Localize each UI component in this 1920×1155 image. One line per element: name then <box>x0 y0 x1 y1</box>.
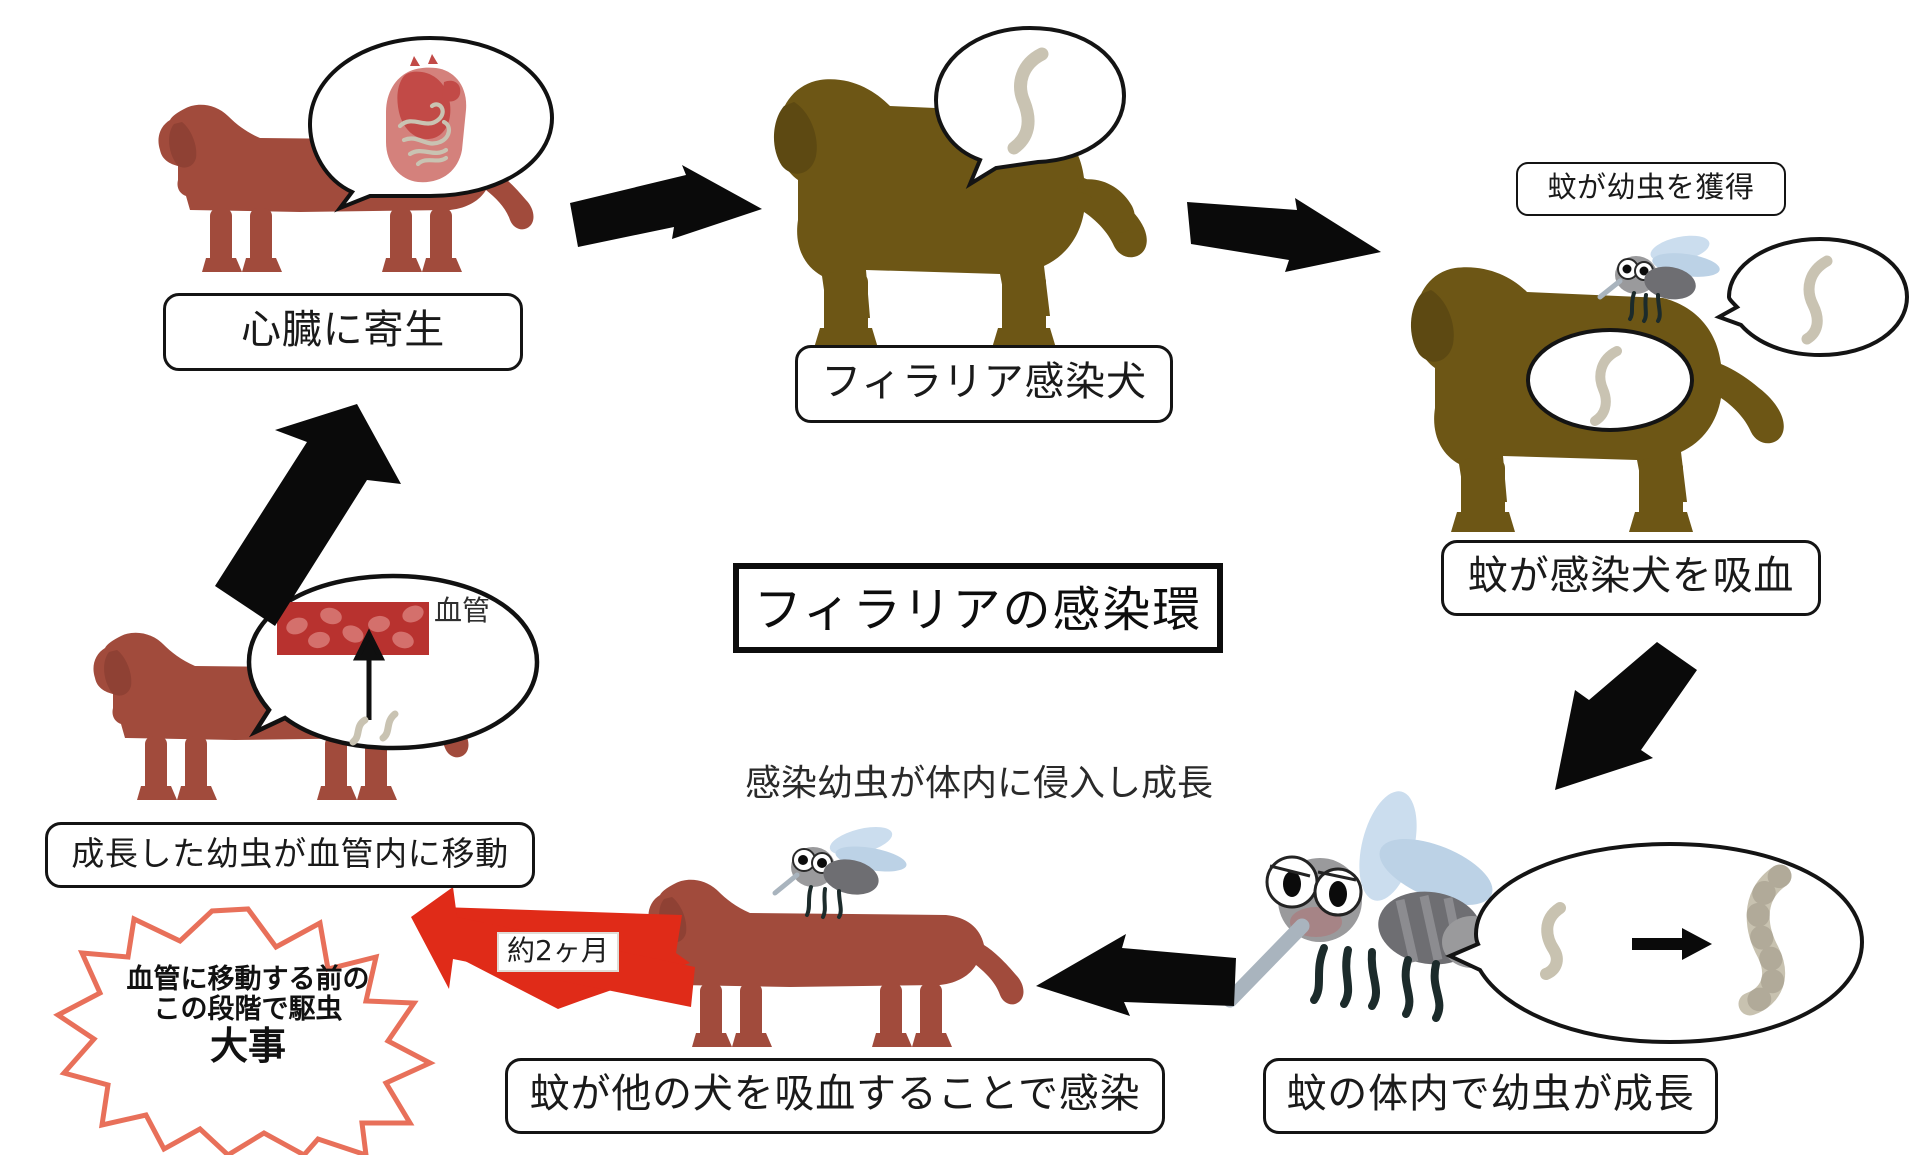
worm-bubble-on-dog <box>1525 325 1695 435</box>
label-mosquito-bites-other-dog: 蚊が他の犬を吸血することで感染 <box>505 1058 1165 1134</box>
label-mosquito-acquires-larvae: 蚊が幼虫を獲得 <box>1516 162 1786 216</box>
diagram-canvas: 心臓に寄生 フィラリア感 <box>0 0 1920 1151</box>
arrow-left-1 <box>1030 930 1240 1040</box>
mosquito-small-icon <box>1600 235 1730 335</box>
label-larvae-move-to-vessels: 成長した幼虫が血管内に移動 <box>45 822 535 888</box>
heart-speech-bubble <box>300 30 560 230</box>
mosquito-biting-icon <box>775 825 925 935</box>
callout-line-2: この段階で駆虫 <box>48 995 448 1025</box>
label-infected-dog: フィラリア感染犬 <box>795 345 1173 423</box>
label-mosquito-bites-infected-dog: 蚊が感染犬を吸血 <box>1441 540 1821 616</box>
label-heart-parasite: 心臓に寄生 <box>163 293 523 371</box>
worm-speech-bubble-2 <box>1715 235 1915 360</box>
worm-growth-speech-bubble <box>1450 838 1870 1050</box>
callout-text: 血管に移動する前の この段階で駆虫 大事 <box>48 965 448 1068</box>
worm-speech-bubble-1 <box>930 22 1130 202</box>
arrow-up-left <box>215 400 405 630</box>
diagram-title: フィラリアの感染環 <box>733 563 1223 653</box>
arrow-right-2 <box>1185 180 1385 295</box>
callout-line-3: 大事 <box>48 1025 448 1068</box>
label-duration-2-months: 約2ヶ月 <box>497 932 619 972</box>
label-larvae-invade-and-grow: 感染幼虫が体内に侵入し成長 <box>745 766 1213 802</box>
label-blood-vessel: 血管 <box>434 597 490 625</box>
callout-line-1: 血管に移動する前の <box>48 965 448 995</box>
arrow-right-1 <box>566 165 766 275</box>
label-larvae-grow-in-mosquito: 蚊の体内で幼虫が成長 <box>1263 1058 1718 1134</box>
